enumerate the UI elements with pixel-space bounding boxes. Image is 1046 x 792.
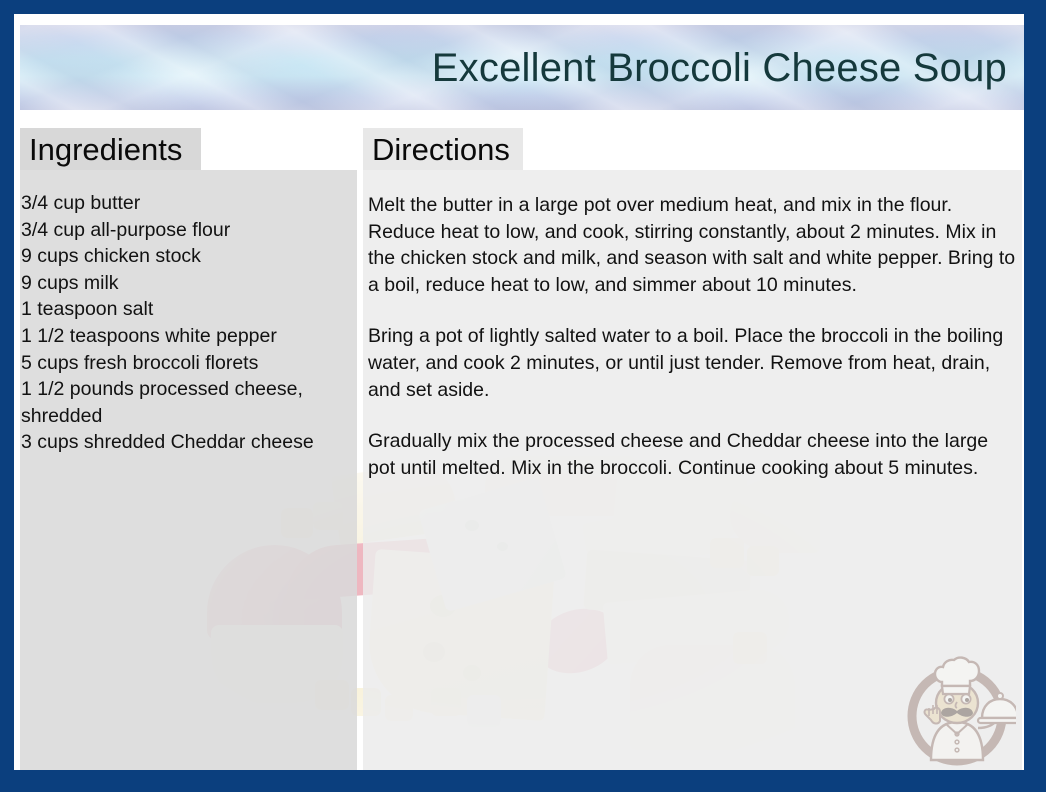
title-banner: Excellent Broccoli Cheese Soup [20, 25, 1025, 110]
list-item: 5 cups fresh broccoli florets [21, 350, 356, 377]
list-item: 3/4 cup butter [21, 190, 356, 217]
list-item: 9 cups chicken stock [21, 243, 356, 270]
direction-step: Gradually mix the processed cheese and C… [368, 428, 1018, 481]
directions-steps: Melt the butter in a large pot over medi… [368, 192, 1018, 481]
slide-border-left [0, 0, 14, 792]
list-item: 3 cups shredded Cheddar cheese [21, 429, 356, 456]
direction-step: Bring a pot of lightly salted water to a… [368, 323, 1018, 403]
ingredients-list: 3/4 cup butter 3/4 cup all-purpose flour… [21, 190, 356, 456]
list-item: 1 1/2 pounds processed cheese, shredded [21, 376, 356, 429]
slide-border-right [1024, 0, 1046, 792]
direction-step: Melt the butter in a large pot over medi… [368, 192, 1018, 298]
list-item: 1 teaspoon salt [21, 296, 356, 323]
list-item: 9 cups milk [21, 270, 356, 297]
slide-border-top [0, 0, 1046, 14]
directions-heading: Directions [363, 134, 510, 165]
list-item: 1 1/2 teaspoons white pepper [21, 323, 356, 350]
page-title: Excellent Broccoli Cheese Soup [432, 46, 1007, 90]
slide-border-bottom [0, 770, 1046, 792]
list-item: 3/4 cup all-purpose flour [21, 217, 356, 244]
chef-with-serving-dome-logo [898, 648, 1016, 768]
directions-heading-tab: Directions [363, 128, 523, 170]
ingredients-heading-tab: Ingredients [20, 128, 201, 170]
ingredients-heading: Ingredients [20, 134, 182, 165]
recipe-card-slide: Excellent Broccoli Cheese Soup [0, 0, 1046, 792]
